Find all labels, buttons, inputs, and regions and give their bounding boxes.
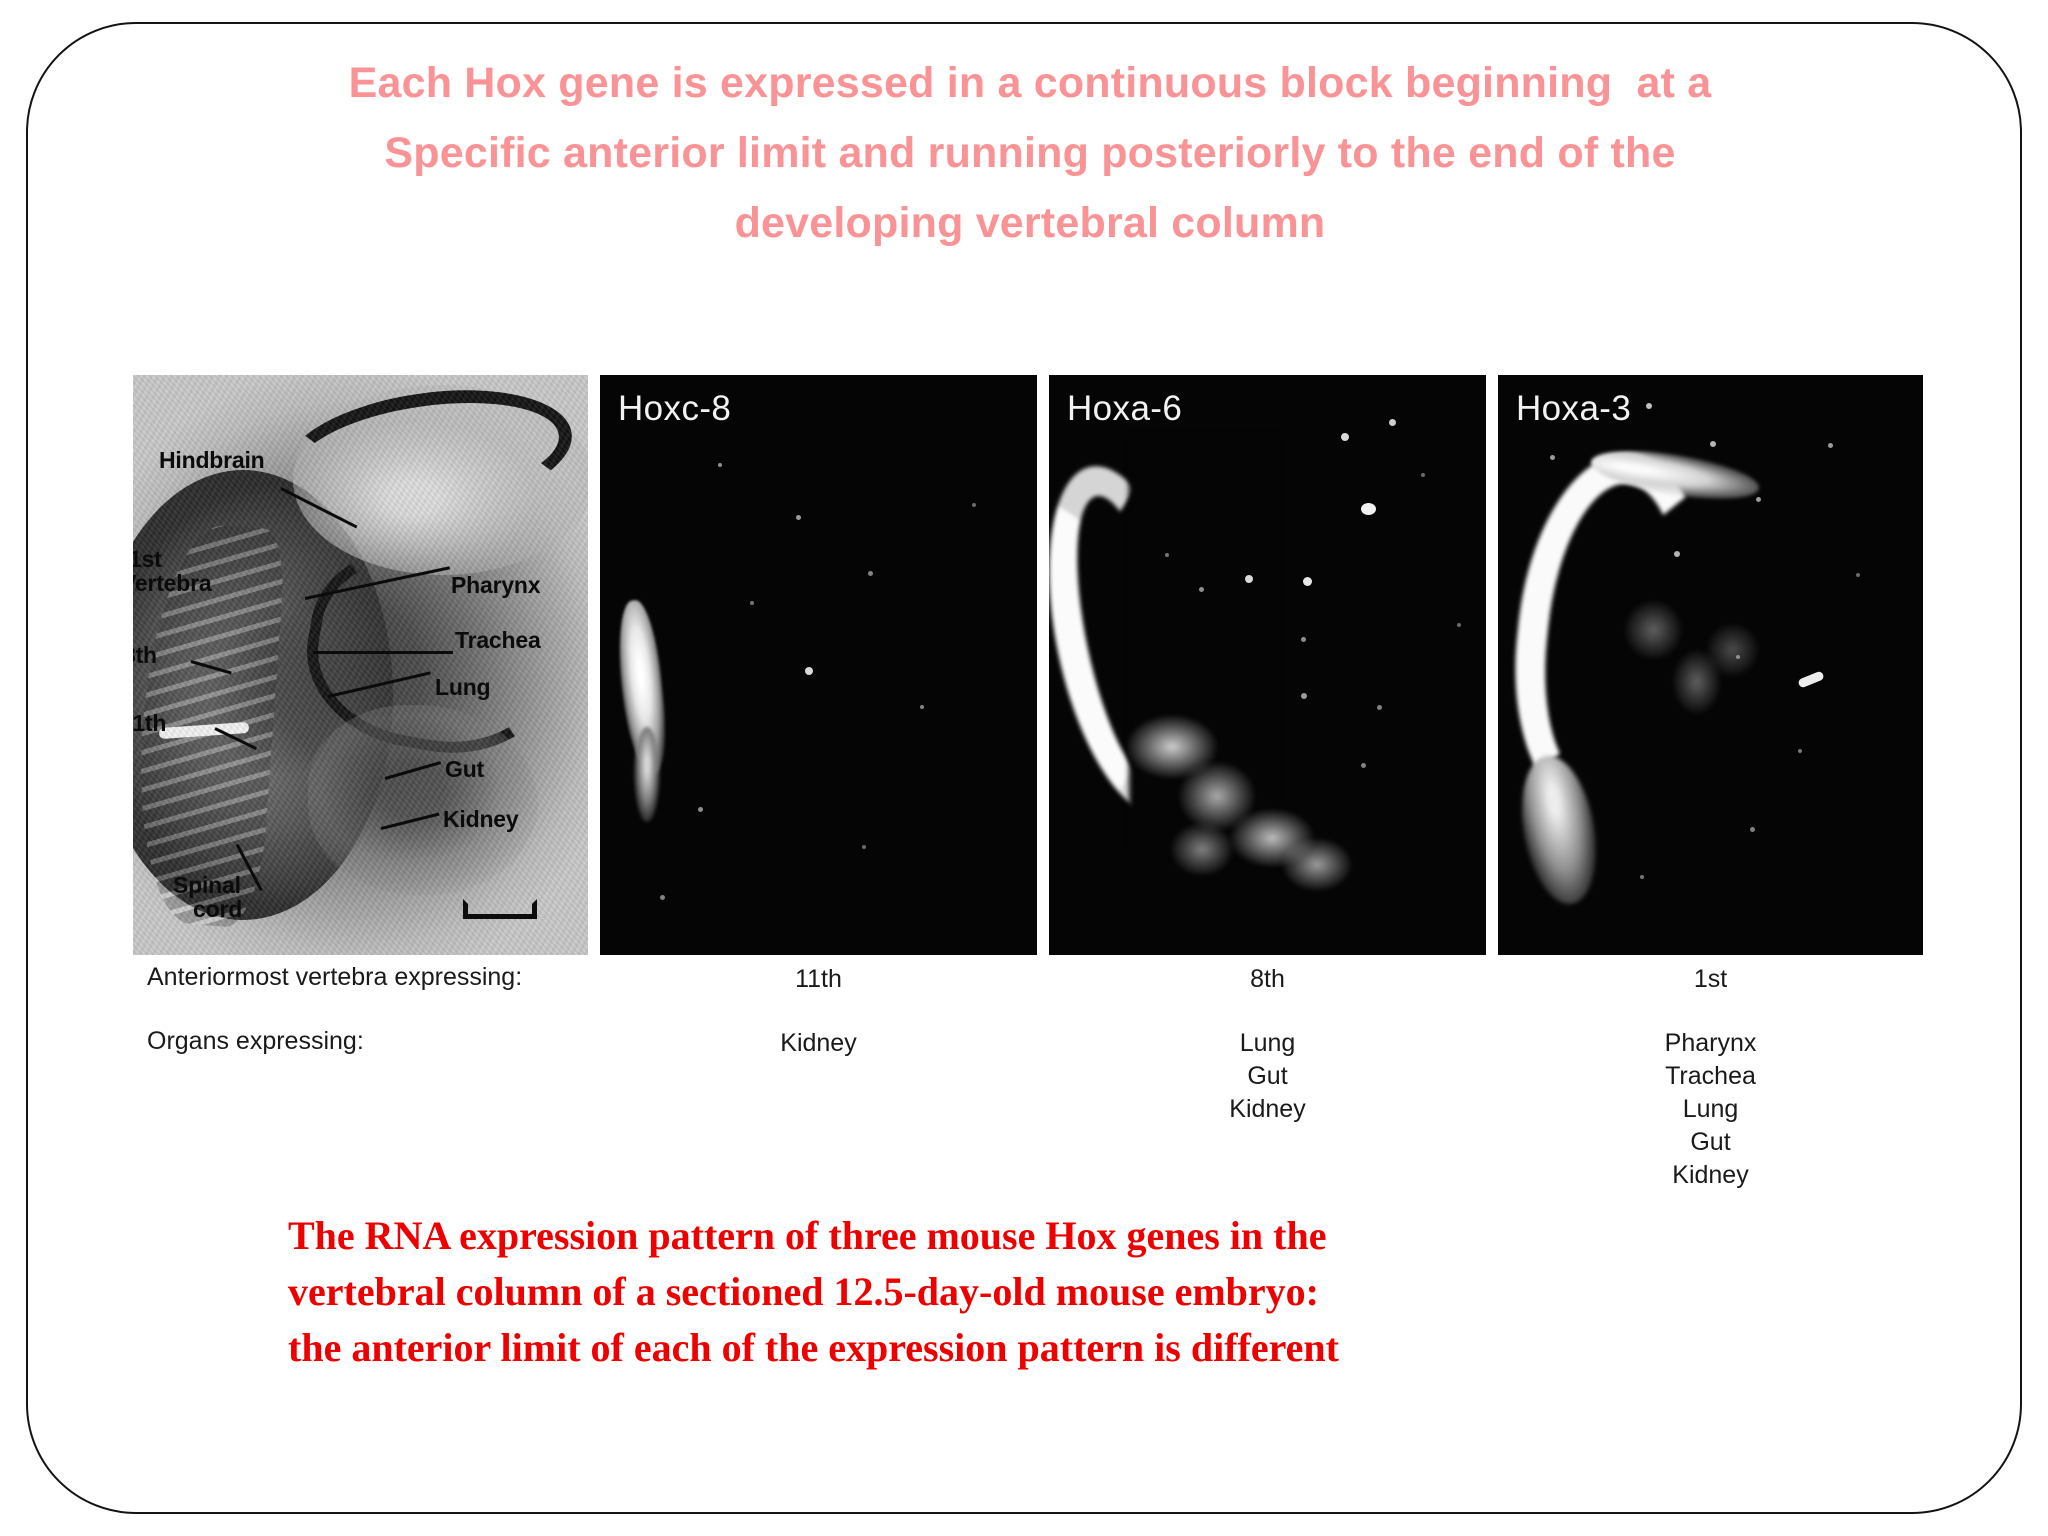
panel-hoxa-6: Hoxa-6 (1049, 375, 1486, 955)
speckle-dot (1457, 623, 1461, 627)
speckle-dot (698, 807, 703, 812)
bottom-caption-block: The RNA expression pattern of three mous… (288, 1208, 1848, 1376)
embryo-label-spinal-cord-line2: cord (193, 897, 242, 922)
speckle-dot (1301, 637, 1306, 642)
speckle-dot (1301, 693, 1307, 699)
gene-label-hoxa-3: Hoxa-3 (1516, 389, 1631, 429)
caption-cell-vertebra-hoxa3: 1st (1498, 963, 1923, 996)
speckle-dot (1361, 503, 1376, 515)
speckle-dot (750, 601, 754, 605)
speckle-dot (1750, 827, 1755, 832)
caption-cell-organs-hoxc8: Kidney (600, 1027, 1037, 1060)
speckle-dot (805, 667, 813, 675)
embryo-scale-bar (463, 899, 537, 919)
caption-cell-organs-hoxa3: Pharynx Trachea Lung Gut Kidney (1498, 1027, 1923, 1192)
title-line-3: developing vertebral column (120, 188, 1940, 258)
speckle-dot (1736, 655, 1740, 659)
bottom-caption-line-1: The RNA expression pattern of three mous… (288, 1208, 1848, 1264)
speckle-dot (862, 845, 866, 849)
slide-root: Each Hox gene is expressed in a continuo… (0, 0, 2048, 1536)
embryo-label-kidney: Kidney (443, 807, 518, 832)
embryo-label-trachea: Trachea (455, 628, 541, 653)
speckle-dot (1361, 763, 1366, 768)
title-line-1: Each Hox gene is expressed in a continuo… (120, 48, 1940, 118)
speckle-dot (1710, 441, 1716, 447)
speckle-dot (796, 515, 801, 520)
speckle-dot (1828, 443, 1833, 448)
slide-title: Each Hox gene is expressed in a continuo… (120, 48, 1940, 258)
embryo-label-8th: 8th (133, 643, 157, 668)
embryo-label-gut: Gut (445, 757, 484, 782)
hoxa3-bright-streak (1797, 670, 1824, 688)
caption-rowlabel-anteriormost: Anteriormost vertebra expressing: (147, 963, 522, 992)
speckle-dot (1421, 473, 1425, 477)
embryo-label-first-vertebra-line1: 1st (133, 547, 162, 572)
panel-hoxc-8: Hoxc-8 (600, 375, 1037, 955)
hoxa6-signal-cloud (1127, 705, 1377, 895)
speckle-dot (718, 463, 722, 467)
embryo-label-pharynx: Pharynx (451, 573, 540, 598)
hoxc8-signal-tail (634, 727, 660, 822)
caption-cell-organs-hoxa6: Lung Gut Kidney (1049, 1027, 1486, 1126)
leader-line-trachea (313, 651, 453, 654)
figure-panel-row: Hindbrain 1st Vertebra Pharynx Trachea L… (133, 375, 1923, 955)
speckle-dot (1377, 705, 1382, 710)
figure-hox-expression: Hindbrain 1st Vertebra Pharynx Trachea L… (133, 375, 1923, 1185)
embryo-label-spinal-cord-line1: Spinal (173, 873, 241, 898)
speckle-dot (1646, 403, 1652, 409)
caption-cell-vertebra-hoxa6: 8th (1049, 963, 1486, 996)
speckle-dot (1798, 749, 1802, 753)
title-line-2: Specific anterior limit and running post… (120, 118, 1940, 188)
caption-rowlabel-organs: Organs expressing: (147, 1027, 364, 1056)
speckle-dot (1674, 551, 1680, 557)
embryo-label-hindbrain: Hindbrain (159, 448, 265, 473)
speckle-dot (868, 571, 873, 576)
hoxa3-signal-cloud (1603, 570, 1783, 770)
panel-embryo-histology: Hindbrain 1st Vertebra Pharynx Trachea L… (133, 375, 588, 955)
speckle-dot (1756, 497, 1761, 502)
speckle-dot (920, 705, 924, 709)
speckle-dot (1550, 455, 1555, 460)
speckle-dot (1341, 433, 1349, 441)
embryo-label-11th: 11th (133, 711, 166, 736)
panel-hoxa-3: Hoxa-3 (1498, 375, 1923, 955)
bottom-caption-line-2: vertebral column of a sectioned 12.5-day… (288, 1264, 1848, 1320)
gene-label-hoxc-8: Hoxc-8 (618, 389, 731, 429)
speckle-dot (1640, 875, 1644, 879)
gene-label-hoxa-6: Hoxa-6 (1067, 389, 1182, 429)
speckle-dot (972, 503, 976, 507)
speckle-dot (1199, 587, 1204, 592)
speckle-dot (660, 895, 665, 900)
speckle-dot (1303, 577, 1312, 586)
speckle-dot (1245, 575, 1253, 583)
bottom-caption-line-3: the anterior limit of each of the expres… (288, 1320, 1848, 1376)
speckle-dot (1389, 419, 1396, 426)
embryo-label-first-vertebra-line2: Vertebra (133, 571, 211, 596)
speckle-dot (1856, 573, 1860, 577)
caption-cell-vertebra-hoxc8: 11th (600, 963, 1037, 996)
embryo-label-lung: Lung (435, 675, 490, 700)
speckle-dot (1165, 553, 1169, 557)
